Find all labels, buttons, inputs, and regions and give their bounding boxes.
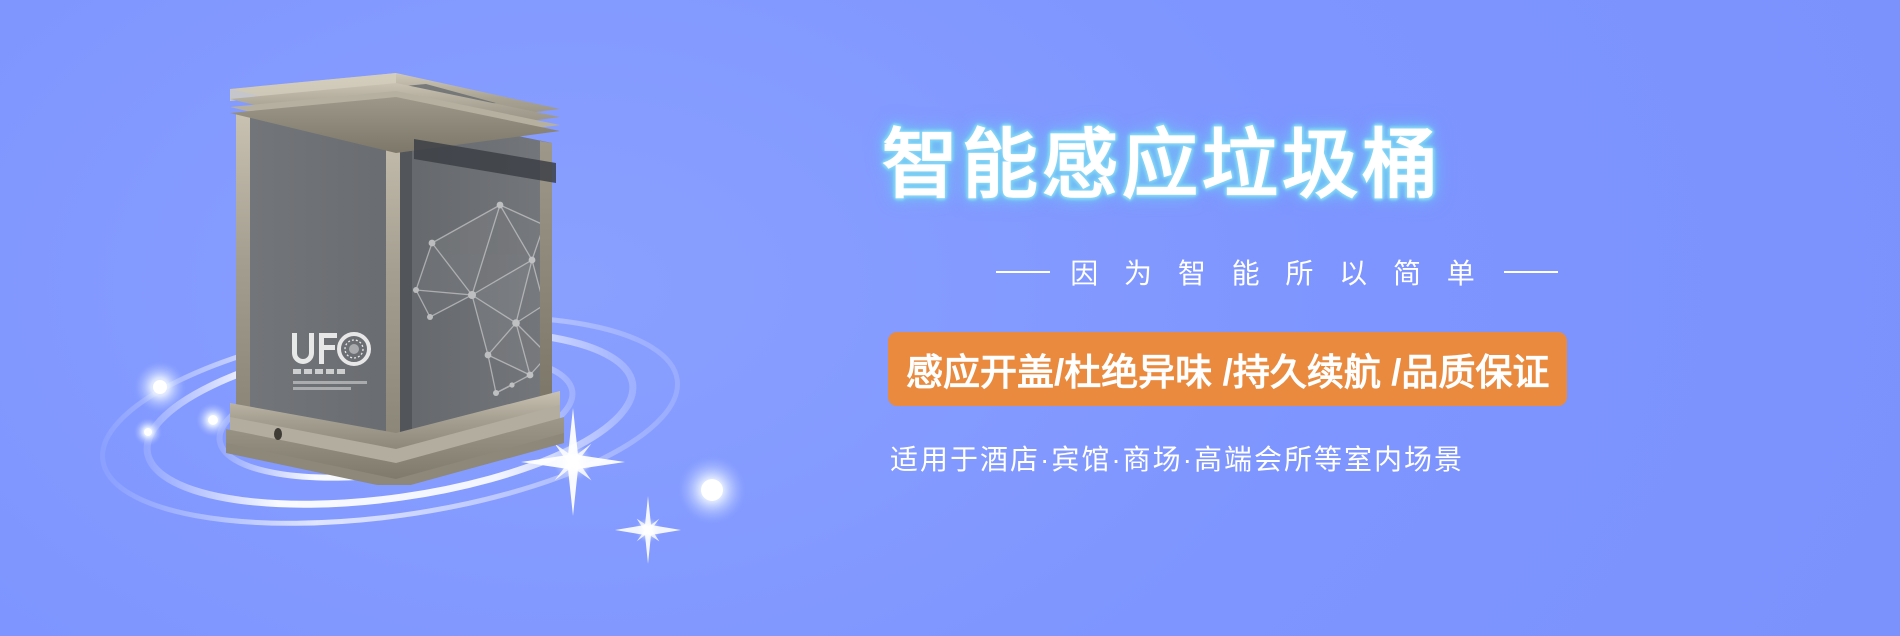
glow-dot [134, 361, 186, 413]
base-latch-icon [274, 428, 282, 440]
logo-subtext [293, 369, 345, 374]
subtitle-rule-left [996, 271, 1050, 273]
sparkle-small [615, 496, 681, 564]
glow-dot [134, 418, 162, 446]
bin-corner-post-mid [386, 111, 400, 438]
subtitle-rule-right [1504, 271, 1558, 273]
bin-corner-post-left [236, 113, 250, 409]
glow-dot [153, 380, 167, 394]
product-image [200, 55, 630, 485]
product-stage [60, 0, 860, 636]
usage-scenes-text: 适用于酒店·宾馆·商场·高端会所等室内场景 [890, 438, 1464, 478]
glow-dot [144, 428, 152, 436]
product-banner: 智能感应垃圾桶 因 为 智 能 所 以 简 单 感应开盖/杜绝异味 /持久续航 … [0, 0, 1900, 636]
subtitle-text: 因 为 智 能 所 以 简 单 [1070, 252, 1483, 292]
glow-orb [678, 456, 746, 524]
feature-badge: 感应开盖/杜绝异味 /持久续航 /品质保证 [888, 332, 1567, 406]
page-title: 智能感应垃圾桶 [882, 128, 1442, 204]
copy-block: 智能感应垃圾桶 因 为 智 能 所 以 简 单 感应开盖/杜绝异味 /持久续航 … [860, 0, 1860, 636]
subtitle-row: 因 为 智 能 所 以 简 单 [882, 252, 1672, 292]
feature-badge-text: 感应开盖/杜绝异味 /持久续航 /品质保证 [906, 342, 1549, 396]
